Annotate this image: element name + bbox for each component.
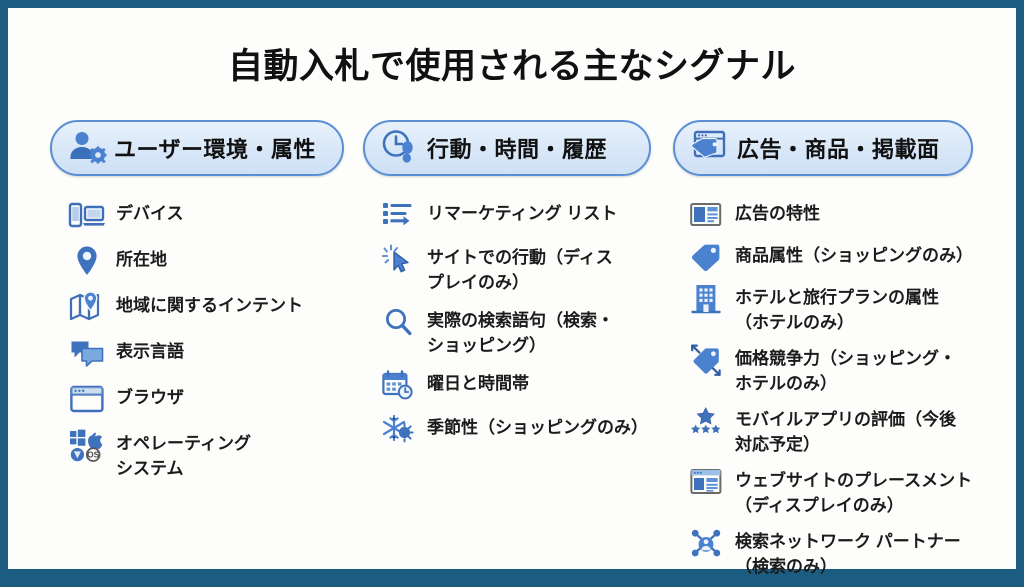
- search-network-icon: [687, 526, 725, 560]
- price-tag-icon: [687, 240, 725, 274]
- list-item-label: 所在地: [116, 244, 167, 272]
- device-phone-laptop-icon: [68, 198, 106, 232]
- list-item[interactable]: デバイス: [68, 198, 373, 232]
- list-item[interactable]: OS オペレーティング システム: [68, 428, 373, 481]
- ad-tag-window-icon: [687, 125, 733, 171]
- star-rating-icon: [687, 404, 725, 438]
- ad-layout-icon: [687, 198, 725, 232]
- list-item[interactable]: 季節性（ショッピングのみ）: [379, 412, 679, 446]
- page-title: 自動入札で使用される主なシグナル: [8, 38, 1016, 89]
- column-header-label: 行動・時間・履歴: [427, 132, 607, 164]
- cursor-click-icon: [379, 242, 417, 276]
- column-header-ads-products-placements[interactable]: 広告・商品・掲載面: [673, 120, 973, 176]
- list-item[interactable]: リマーケティング リスト: [379, 198, 679, 232]
- calendar-clock-icon: [379, 368, 417, 402]
- list-item[interactable]: ホテルと旅行プランの属性 （ホテルのみ）: [687, 282, 1017, 335]
- list-item[interactable]: 地域に関するインテント: [68, 290, 373, 324]
- browser-window-icon: [68, 382, 106, 416]
- tag-arrows-icon: [687, 343, 725, 377]
- list-item-label: ホテルと旅行プランの属性 （ホテルのみ）: [735, 282, 939, 335]
- list-item-label: 価格競争力（ショッピング・ ホテルのみ）: [735, 343, 956, 396]
- list-item[interactable]: サイトでの行動（ディス プレイのみ）: [379, 242, 679, 295]
- list-item[interactable]: ウェブサイトのプレースメント （ディスプレイのみ）: [687, 465, 1017, 518]
- signal-list-user-attributes: デバイス 所在地: [50, 198, 373, 493]
- list-item[interactable]: 価格競争力（ショッピング・ ホテルのみ）: [687, 343, 1017, 396]
- list-item-label: 検索ネットワーク パートナー （検索のみ）: [735, 526, 961, 579]
- list-item[interactable]: 商品属性（ショッピングのみ）: [687, 240, 1017, 274]
- column-ads-products-placements: 広告・商品・掲載面: [673, 120, 1003, 176]
- list-item-label: リマーケティング リスト: [427, 198, 617, 226]
- list-item-label: 広告の特性: [735, 198, 820, 226]
- list-item-label: 商品属性（ショッピングのみ）: [735, 240, 973, 268]
- list-item-label: デバイス: [116, 198, 184, 226]
- location-pin-icon: [68, 244, 106, 278]
- column-header-behavior-time-history[interactable]: 行動・時間・履歴: [363, 120, 651, 176]
- slide-frame: 自動入札で使用される主なシグナル: [8, 8, 1016, 569]
- operating-systems-icon: OS: [68, 428, 106, 462]
- list-item[interactable]: ブラウザ: [68, 382, 373, 416]
- column-header-label: ユーザー環境・属性: [114, 132, 316, 164]
- list-item-label: サイトでの行動（ディス プレイのみ）: [427, 242, 613, 295]
- list-item-label: オペレーティング システム: [116, 428, 251, 481]
- list-item[interactable]: 表示言語: [68, 336, 373, 370]
- list-item-label: 地域に関するインテント: [116, 290, 303, 318]
- list-item[interactable]: 検索ネットワーク パートナー （検索のみ）: [687, 526, 1017, 579]
- list-item-label: 曜日と時間帯: [427, 368, 529, 396]
- list-item-label: モバイルアプリの評価（今後 対応予定）: [735, 404, 956, 457]
- list-item-label: 表示言語: [116, 336, 184, 364]
- list-item-label: 実際の検索語句（検索・ ショッピング）: [427, 305, 614, 358]
- svg-text:OS: OS: [87, 450, 100, 460]
- column-behavior-time-history: 行動・時間・履歴: [363, 120, 663, 176]
- list-item-label: ウェブサイトのプレースメント （ディスプレイのみ）: [735, 465, 972, 518]
- map-pin-icon: [68, 290, 106, 324]
- column-user-attributes: ユーザー環境・属性 デバイス: [50, 120, 355, 176]
- clock-footprint-icon: [377, 125, 423, 171]
- columns-container: ユーザー環境・属性 デバイス: [8, 120, 1016, 570]
- column-header-user-attributes[interactable]: ユーザー環境・属性: [50, 120, 344, 176]
- list-item-label: ブラウザ: [116, 382, 184, 410]
- speech-bubbles-icon: [68, 336, 106, 370]
- remarketing-list-icon: [379, 198, 417, 232]
- signal-list-ads: 広告の特性 商品属性（ショッピングのみ）: [673, 198, 1017, 587]
- magnifier-icon: [379, 305, 417, 339]
- hotel-building-icon: [687, 282, 725, 316]
- list-item[interactable]: 広告の特性: [687, 198, 1017, 232]
- list-item[interactable]: 所在地: [68, 244, 373, 278]
- signal-list-behavior: リマーケティング リスト: [363, 198, 679, 456]
- snowflake-sun-icon: [379, 412, 417, 446]
- column-header-label: 広告・商品・掲載面: [737, 132, 940, 164]
- list-item[interactable]: 曜日と時間帯: [379, 368, 679, 402]
- list-item-label: 季節性（ショッピングのみ）: [427, 412, 648, 440]
- user-gear-icon: [64, 125, 110, 171]
- list-item[interactable]: モバイルアプリの評価（今後 対応予定）: [687, 404, 1017, 457]
- list-item[interactable]: 実際の検索語句（検索・ ショッピング）: [379, 305, 679, 358]
- website-placement-icon: [687, 465, 725, 499]
